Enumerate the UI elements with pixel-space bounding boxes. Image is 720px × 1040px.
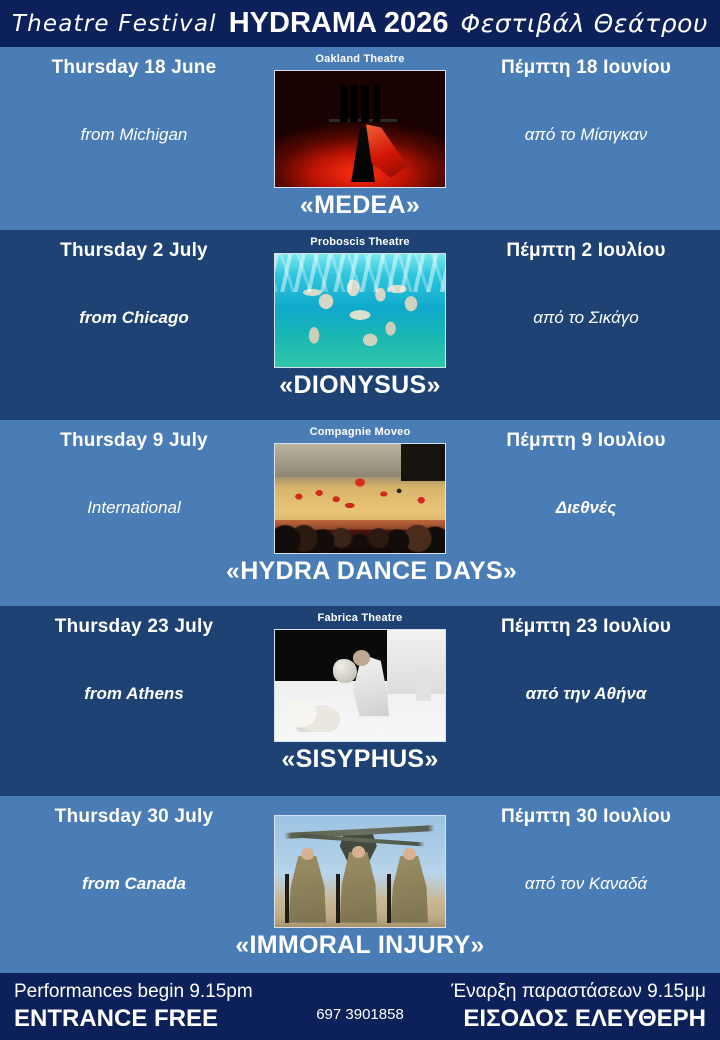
sisyphus-photo	[274, 629, 446, 742]
listing-row-hydra-dance-days: Thursday 9 July International Πέμπτη 9 Ι…	[0, 420, 720, 606]
company-name: Fabrica Theatre	[226, 606, 494, 625]
performance-start-el: Έναρξη παραστάσεων 9.15μμ	[451, 981, 706, 1003]
listing-row-medea: Thursday 18 June from Michigan Πέμπτη 18…	[0, 47, 720, 230]
poster-header: Theatre Festival HYDRAMA 2026 Φεστιβάλ Θ…	[0, 0, 720, 47]
listing-row-sisyphus: Thursday 23 July from Athens Πέμπτη 23 Ι…	[0, 606, 720, 796]
dionysus-photo	[274, 253, 446, 368]
row-center-column: Compagnie Moveo «HYDRA DANCE DAYS»	[226, 420, 494, 586]
festival-poster: Theatre Festival HYDRAMA 2026 Φεστιβάλ Θ…	[0, 0, 720, 1040]
footer-left-column: Performances begin 9.15pm ENTRANCE FREE	[14, 981, 253, 1033]
entrance-free-en: ENTRANCE FREE	[14, 1005, 253, 1033]
play-title: «MEDEA»	[226, 191, 494, 220]
entrance-free-el: ΕΙΣΟΔΟΣ ΕΛΕΥΘΕΡΗ	[451, 1005, 706, 1033]
immoral-injury-photo	[274, 815, 446, 928]
play-title: «SISYPHUS»	[226, 745, 494, 774]
medea-photo	[274, 70, 446, 188]
page-title: HYDRAMA 2026	[229, 7, 449, 40]
header-greek-label: Φεστιβάλ Θεάτρου	[448, 9, 708, 38]
listing-row-immoral-injury: Thursday 30 July from Canada Πέμπτη 30 Ι…	[0, 796, 720, 973]
hydra-dance-days-photo	[274, 443, 446, 554]
company-name: Oakland Theatre	[226, 47, 494, 66]
performance-start-en: Performances begin 9.15pm	[14, 981, 253, 1003]
contact-phone[interactable]: 697 3901858	[316, 1006, 404, 1023]
row-center-column: «IMMORAL INJURY»	[226, 796, 494, 960]
row-center-column: Proboscis Theatre «DIONYSUS»	[226, 230, 494, 400]
play-title: «DIONYSUS»	[226, 371, 494, 400]
row-center-column: Oakland Theatre «MEDEA»	[226, 47, 494, 220]
poster-footer: Performances begin 9.15pm ENTRANCE FREE …	[0, 973, 720, 1040]
listing-row-dionysus: Thursday 2 July from Chicago Πέμπτη 2 Ιο…	[0, 230, 720, 420]
row-center-column: Fabrica Theatre «SISYPHUS»	[226, 606, 494, 774]
play-title: «IMMORAL INJURY»	[226, 931, 494, 960]
footer-right-column: Έναρξη παραστάσεων 9.15μμ ΕΙΣΟΔΟΣ ΕΛΕΥΘΕ…	[451, 981, 706, 1033]
company-name: Proboscis Theatre	[226, 230, 494, 249]
header-script-label: Theatre Festival	[12, 11, 229, 37]
company-name: Compagnie Moveo	[226, 420, 494, 439]
play-title: «HYDRA DANCE DAYS»	[226, 557, 494, 586]
company-name	[226, 796, 494, 801]
